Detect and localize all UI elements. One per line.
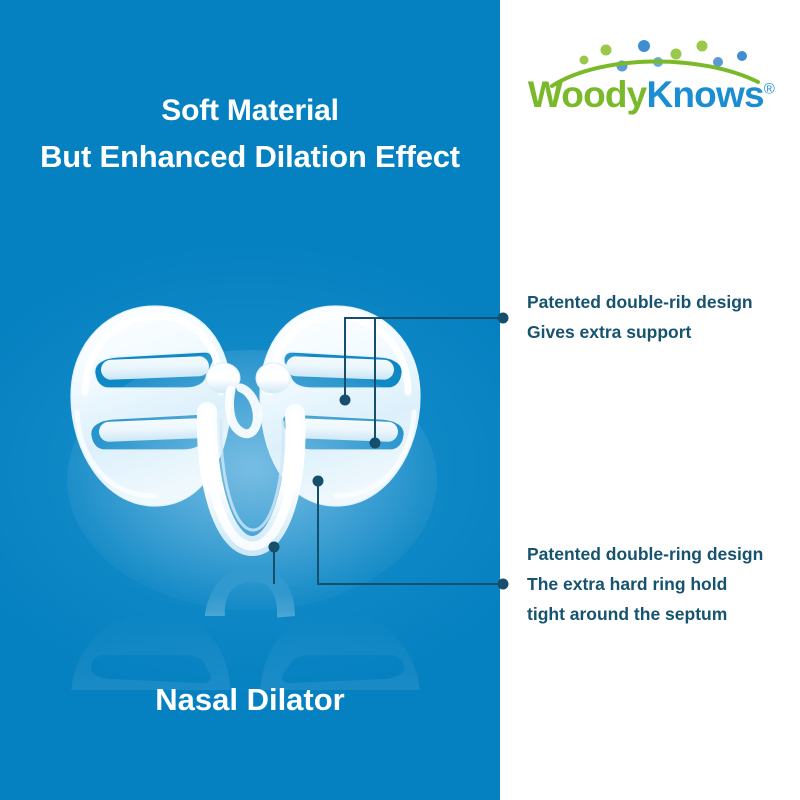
annotation-double-ring: Patented double-ring design The extra ha…	[527, 539, 763, 629]
headline-line-1: Soft Material	[0, 88, 500, 134]
annotation-ring-line-2: The extra hard ring hold	[527, 569, 763, 599]
registered-trademark-icon: ®	[764, 81, 774, 98]
annotation-rib-line-1: Patented double-rib design	[527, 287, 753, 317]
headline: Soft Material But Enhanced Dilation Effe…	[0, 88, 500, 180]
logo-wordmark: WoodyKnows®	[506, 74, 774, 116]
woodyknows-logo: WoodyKnows®	[506, 32, 774, 122]
annotation-ring-line-3: tight around the septum	[527, 599, 763, 629]
logo-word-woody: Woody	[528, 74, 647, 115]
headline-line-2: But Enhanced Dilation Effect	[0, 134, 500, 180]
annotation-double-rib: Patented double-rib design Gives extra s…	[527, 287, 753, 347]
nasal-dilator-product-image	[55, 300, 450, 690]
product-caption: Nasal Dilator	[0, 682, 500, 718]
logo-word-knows: Knows	[646, 74, 763, 115]
annotation-rib-line-2: Gives extra support	[527, 317, 753, 347]
annotation-ring-line-1: Patented double-ring design	[527, 539, 763, 569]
